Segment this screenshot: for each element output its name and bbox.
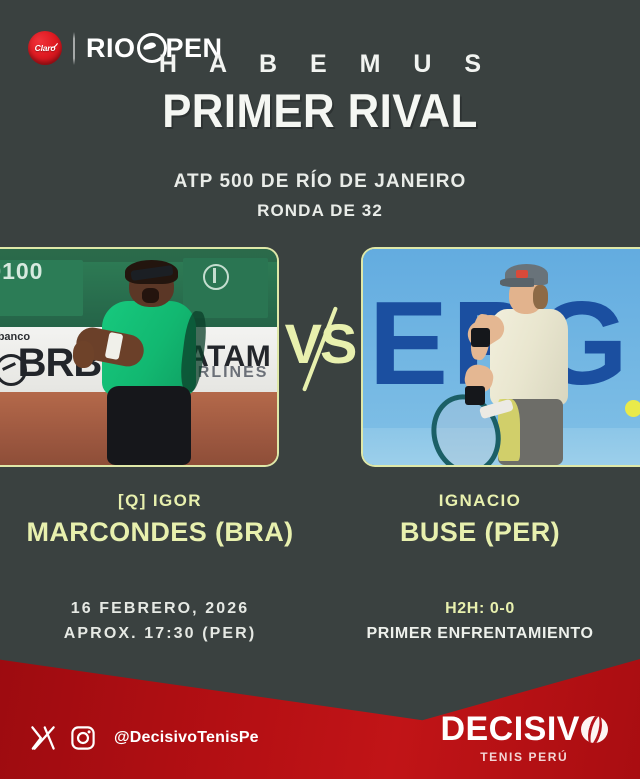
photo-player-cap-logo	[516, 270, 527, 278]
social-links: @DecisivoTenisPe	[30, 725, 259, 751]
brand-tagline: TENIS PERÚ	[440, 750, 608, 764]
brand-name-row: DECISIV	[440, 712, 608, 746]
match-date: 16 FEBRERO, 2026	[0, 601, 320, 617]
tournament-info: ATP 500 DE RÍO DE JANEIRO RONDA DE 32	[0, 172, 640, 219]
match-meta-row: 16 FEBRERO, 2026 APROX. 17:30 (PER) H2H:…	[0, 601, 640, 642]
tournament-round: RONDA DE 32	[0, 202, 640, 219]
head-to-head: H2H: 0-0 PRIMER ENFRENTAMIENTO	[320, 601, 640, 642]
photo-tennis-ball	[625, 400, 640, 417]
hero-eyebrow: H A B E M U S	[0, 52, 640, 77]
h2h-note: PRIMER ENFRENTAMIENTO	[320, 626, 640, 642]
player-first-name: [Q] IGOR	[0, 492, 320, 509]
photo-player-cap-brim	[500, 278, 534, 286]
photo-player-wristband-lower	[465, 386, 485, 405]
photo-banner-number-text: 0100	[0, 258, 43, 285]
brand-name-text: DECISIV	[440, 712, 580, 746]
match-schedule: 16 FEBRERO, 2026 APROX. 17:30 (PER)	[0, 601, 320, 642]
photo-player-mouth	[142, 288, 159, 302]
player-name-left: [Q] IGOR MARCONDES (BRA)	[0, 492, 320, 546]
x-icon[interactable]	[30, 725, 56, 751]
tennis-ball-icon	[581, 716, 608, 743]
brand-logo: DECISIV TENIS PERÚ	[440, 712, 616, 764]
player-names-row: [Q] IGOR MARCONDES (BRA) IGNACIO BUSE (P…	[0, 492, 640, 546]
versus-slash-icon	[302, 306, 338, 391]
tournament-event: ATP 500 DE RÍO DE JANEIRO	[0, 172, 640, 191]
photo-banner-number: 0100	[0, 260, 83, 316]
footer-content: @DecisivoTenisPe DECISIV TENIS PERÚ	[0, 703, 640, 779]
player-last-name: BUSE (PER)	[320, 519, 640, 546]
player-last-name: MARCONDES (BRA)	[0, 519, 320, 546]
h2h-record: H2H: 0-0	[320, 601, 640, 617]
instagram-icon[interactable]	[70, 725, 96, 751]
player-name-right: IGNACIO BUSE (PER)	[320, 492, 640, 546]
social-handle[interactable]: @DecisivoTenisPe	[114, 729, 259, 747]
hero-title: PRIMER RIVAL	[22, 87, 617, 134]
match-time: APROX. 17:30 (PER)	[0, 626, 320, 642]
player-first-name: IGNACIO	[320, 492, 640, 509]
photo-player-hair	[533, 285, 548, 310]
versus-badge: VS	[0, 316, 640, 386]
match-announcement-poster: Claro RIO PEN H A B E M U S PRIMER RIVAL…	[0, 0, 640, 779]
photo-player-shorts	[107, 386, 191, 465]
claro-swoosh-icon	[51, 43, 58, 50]
versus-label: VS	[285, 316, 356, 372]
hero-heading: H A B E M U S PRIMER RIVAL	[0, 52, 640, 134]
